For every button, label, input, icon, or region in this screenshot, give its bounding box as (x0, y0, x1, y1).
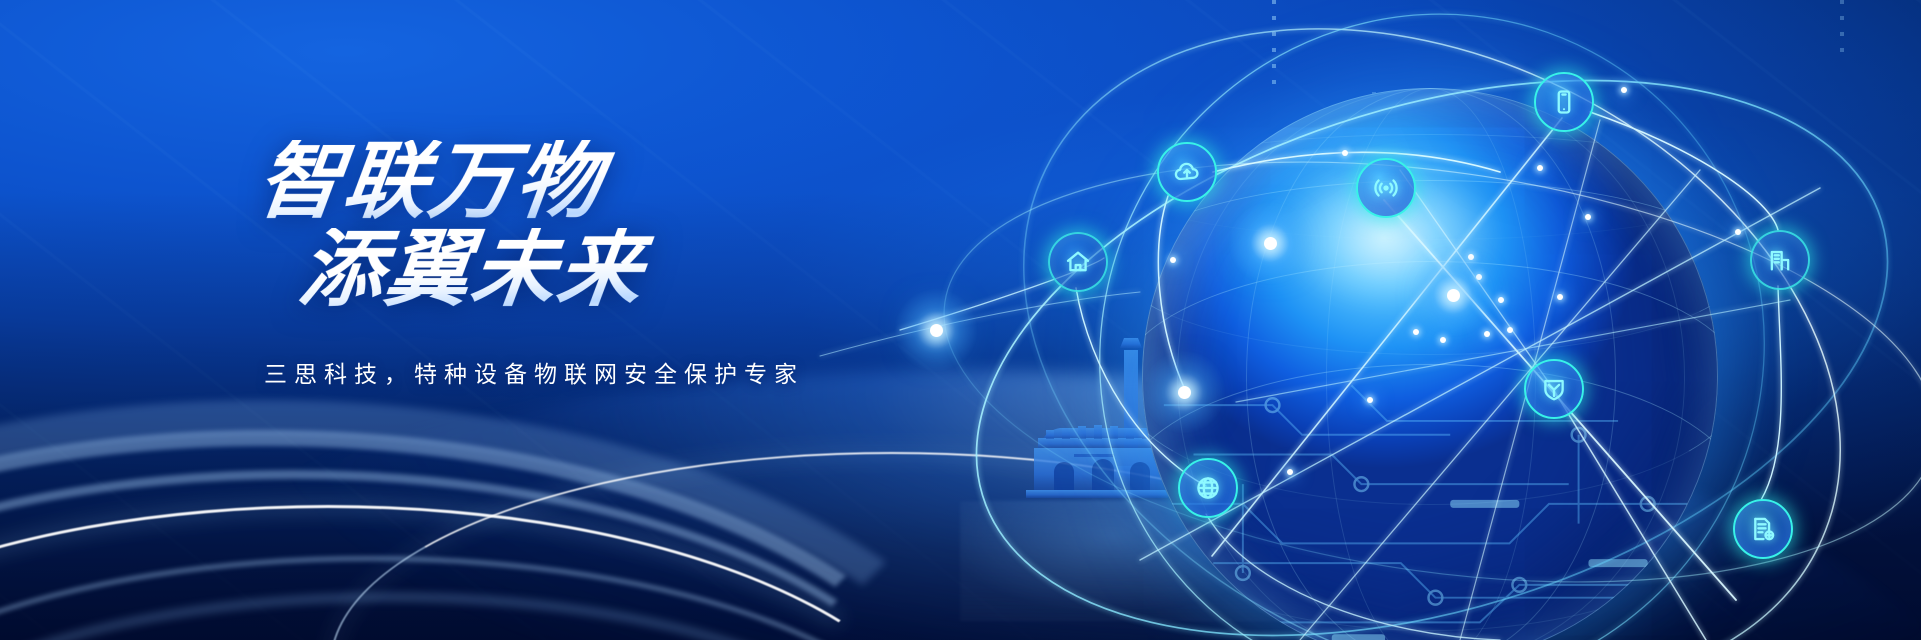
network-node (1447, 289, 1460, 302)
network-node (1342, 150, 1348, 156)
network-node (1621, 87, 1627, 93)
network-node (1264, 237, 1277, 250)
network-node (1507, 327, 1513, 333)
dotted-line-decoration (1840, 0, 1844, 60)
network-node (1287, 469, 1293, 475)
building-icon[interactable] (1750, 230, 1810, 290)
dotted-line-decoration (1272, 0, 1276, 84)
network-node (1735, 229, 1741, 235)
network-node (1476, 274, 1482, 280)
globe-network-icon[interactable] (1178, 458, 1238, 518)
network-node (1537, 165, 1543, 171)
network-node (1484, 331, 1490, 337)
network-node (1468, 254, 1474, 260)
page-title-line-1: 智联万物 (253, 140, 943, 222)
network-globe (1142, 88, 1718, 640)
document-gear-icon[interactable] (1733, 499, 1793, 559)
page-subtitle: 三思科技，特种设备物联网安全保护专家 (264, 355, 938, 389)
page-title-line-2: 添翼未来 (295, 228, 943, 310)
network-node (1557, 294, 1563, 300)
wifi-signal-icon[interactable] (1356, 158, 1416, 218)
mobile-icon[interactable] (1534, 72, 1594, 132)
home-icon[interactable] (1048, 232, 1108, 292)
network-node (1585, 214, 1591, 220)
hero-banner: 智联万物 添翼未来 三思科技，特种设备物联网安全保护专家 (0, 0, 1921, 640)
network-node (1413, 329, 1419, 335)
hero-text-block: 智联万物 添翼未来 三思科技，特种设备物联网安全保护专家 (258, 140, 938, 389)
network-node (1367, 397, 1373, 403)
network-node (1498, 297, 1504, 303)
globe-rim (1142, 88, 1718, 640)
network-node (1178, 386, 1191, 399)
cloud-upload-icon[interactable] (1157, 142, 1217, 202)
network-node (1170, 257, 1176, 263)
shield-icon[interactable] (1524, 359, 1584, 419)
network-node (1440, 337, 1446, 343)
